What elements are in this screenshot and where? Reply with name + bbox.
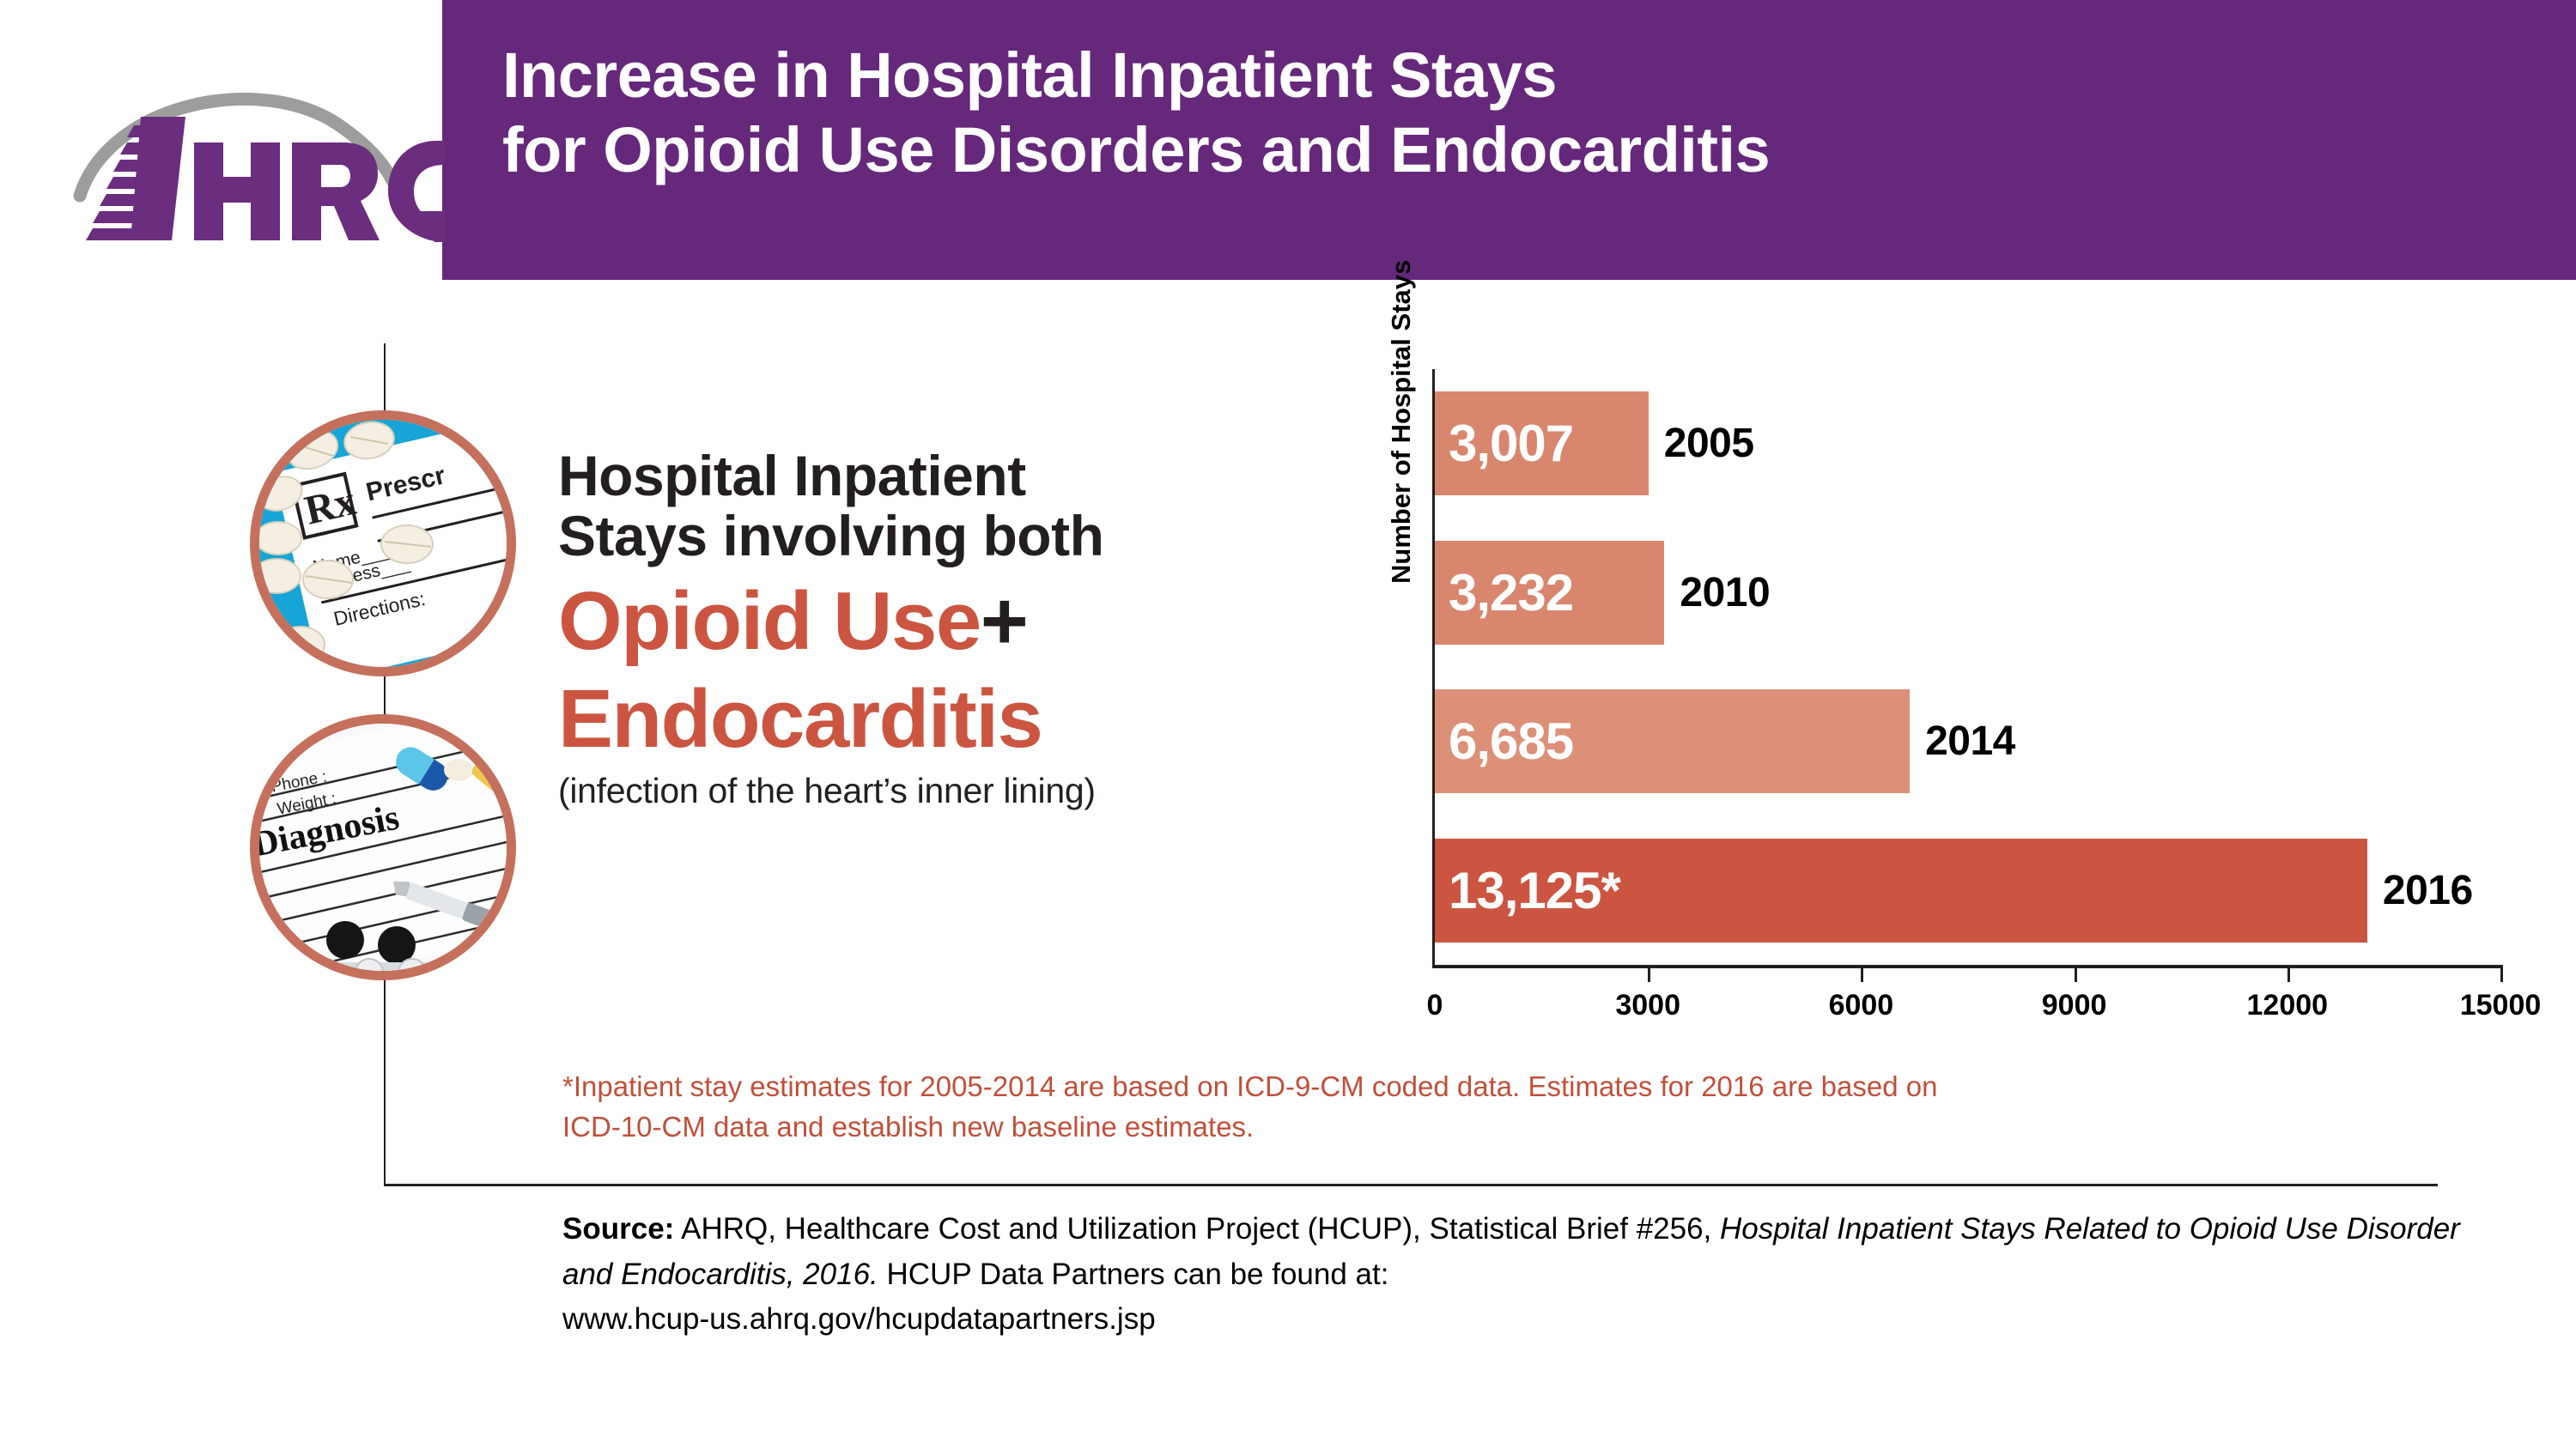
chart-y-axis-label: Number of Hospital Stays	[1386, 260, 1417, 584]
chart-bar-category-label-2005: 2005	[1664, 420, 1754, 467]
page-title-line-2: for Opioid Use Disorders and Endocarditi…	[502, 112, 2555, 187]
chart-bar-category-label-2016: 2016	[2383, 867, 2473, 914]
chart-bar-category-label-2014: 2014	[1925, 718, 2015, 765]
chart-bar-2005: 3,0072005	[1435, 391, 1754, 495]
lead-highlight-2: Endocarditis	[558, 676, 1348, 762]
chart-tick-label-3000: 3000	[1615, 989, 1680, 1022]
source-text-part-1: AHRQ, Healthcare Cost and Utilization Pr…	[674, 1212, 1720, 1246]
lead-highlight-1-row: Opioid Use+	[558, 579, 1348, 664]
chart-x-axis-line	[1432, 965, 2500, 968]
chart-bar-rect-2005: 3,007	[1435, 391, 1649, 495]
chart-tick-3000	[1648, 965, 1650, 982]
chart-bar-category-label-2010: 2010	[1680, 569, 1770, 616]
chart-tick-label-9000: 9000	[2042, 989, 2107, 1022]
lead-line-1: Hospital Inpatient	[558, 446, 1348, 506]
chart-bar-2016: 13,125*2016	[1435, 839, 2473, 943]
prescription-pad-illustration: Rx Prescr Name___ Address___ Directions:	[259, 420, 507, 667]
diagnosis-form-illustration: Phone : Weight : Diagnosis	[259, 724, 507, 971]
chart-tick-6000	[1861, 965, 1863, 982]
footnote-line-1: *Inpatient stay estimates for 2005-2014 …	[562, 1067, 2417, 1107]
page-title-line-1: Increase in Hospital Inpatient Stays	[502, 38, 2555, 112]
diagnosis-form-photo: Phone : Weight : Diagnosis	[250, 714, 516, 980]
page-title: Increase in Hospital Inpatient Stays for…	[502, 38, 2555, 188]
chart-bar-2014: 6,6852014	[1435, 689, 2015, 793]
diagnosis-form-photo-content: Phone : Weight : Diagnosis	[259, 724, 507, 971]
ahrq-logo	[41, 67, 445, 256]
chart-tick-label-15000: 15000	[2460, 989, 2542, 1022]
source-citation: Source: AHRQ, Healthcare Cost and Utiliz…	[562, 1207, 2477, 1343]
chart-tick-9000	[2075, 965, 2077, 982]
lead-highlight-1: Opioid Use	[558, 575, 981, 667]
chart-bar-value-2010: 3,232	[1435, 563, 1573, 622]
connector-line-horizontal	[384, 1184, 2438, 1186]
chart-footnote: *Inpatient stay estimates for 2005-2014 …	[562, 1067, 2417, 1148]
chart-bar-rect-2010: 3,232	[1435, 541, 1664, 645]
chart-bar-value-2016: 13,125*	[1435, 861, 1620, 920]
lead-plus-sign: +	[981, 575, 1028, 667]
prescription-pad-photo-content: Rx Prescr Name___ Address___ Directions:	[259, 420, 507, 667]
chart-bar-value-2005: 3,007	[1435, 414, 1573, 473]
chart-tick-label-12000: 12000	[2247, 989, 2329, 1022]
chart-bar-rect-2014: 6,685	[1435, 689, 1910, 793]
source-url[interactable]: www.hcup-us.ahrq.gov/hcupdatapartners.js…	[562, 1297, 2477, 1343]
lead-subtitle: (infection of the heart’s inner lining)	[558, 771, 1348, 811]
bar-chart: Number of Hospital Stays 3,00720053,2322…	[1391, 369, 2542, 1047]
lead-headline: Hospital Inpatient Stays involving both …	[558, 446, 1348, 811]
lead-line-2: Stays involving both	[558, 506, 1348, 567]
chart-bar-value-2014: 6,685	[1435, 712, 1573, 771]
chart-bar-rect-2016: 13,125*	[1435, 839, 2367, 943]
ahrq-logo-icon	[41, 67, 445, 256]
chart-tick-label-6000: 6000	[1829, 989, 1894, 1022]
footnote-line-2: ICD-10-CM data and establish new baselin…	[562, 1107, 2417, 1148]
chart-tick-label-0: 0	[1427, 989, 1443, 1022]
chart-tick-15000	[2500, 965, 2503, 982]
source-text-part-2: HCUP Data Partners can be found at:	[878, 1258, 1389, 1291]
source-label: Source:	[562, 1212, 674, 1246]
chart-tick-12000	[2287, 965, 2290, 982]
prescription-pad-photo: Rx Prescr Name___ Address___ Directions:	[250, 410, 516, 676]
chart-bar-2010: 3,2322010	[1435, 541, 1770, 645]
